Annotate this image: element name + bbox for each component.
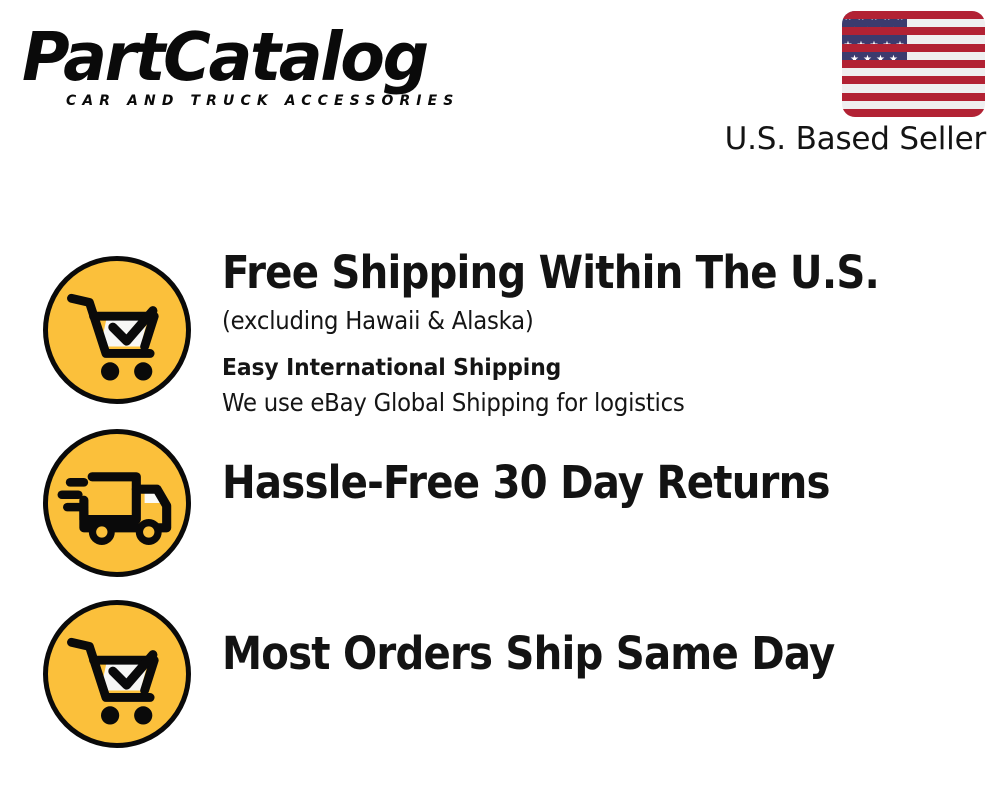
seller-badge-label: U.S. Based Seller [725,120,986,158]
delivery-truck-icon [43,429,191,577]
shopping-cart-check-icon [43,600,191,748]
feature-row: Free Shipping Within The U.S. (excluding… [0,245,1000,417]
feature-row: Most Orders Ship Same Day [0,589,1000,761]
feature-headline: Hassle-Free 30 Day Returns [222,458,900,508]
feature-text-block: Hassle-Free 30 Day Returns [222,458,980,508]
feature-text-block: Most Orders Ship Same Day [222,629,980,679]
brand-wordmark: PartCatalog [22,22,427,92]
header-banner: PartCatalog CAR AND TRUCK ACCESSORIES ★★… [0,0,1000,165]
flag-stripe [842,60,985,68]
feature-headline: Free Shipping Within The U.S. [222,248,900,298]
flag-stripe [842,44,985,52]
feature-text-block: Free Shipping Within The U.S. (excluding… [222,248,980,419]
us-flag-icon: ★★★★★★★★★★★★★★★★★★ [842,11,985,117]
feature-subline-primary: (excluding Hawaii & Alaska) [222,304,927,337]
brand-logo: PartCatalog CAR AND TRUCK ACCESSORIES [22,22,492,112]
flag-stripe [842,93,985,101]
feature-row: Hassle-Free 30 Day Returns [0,417,1000,589]
seller-badge: ★★★★★★★★★★★★★★★★★★ U.S. Based Seller [716,8,986,158]
feature-subline-secondary: We use eBay Global Shipping for logistic… [222,386,927,419]
flag-stripe [842,11,985,19]
flag-stripe [842,27,985,35]
feature-subline-strong: Easy International Shipping [222,351,927,384]
feature-headline: Most Orders Ship Same Day [222,629,900,679]
shopping-cart-check-icon [43,256,191,404]
flag-stripe [842,109,985,117]
flag-stripe [842,76,985,84]
brand-tagline: CAR AND TRUCK ACCESSORIES [66,93,459,109]
